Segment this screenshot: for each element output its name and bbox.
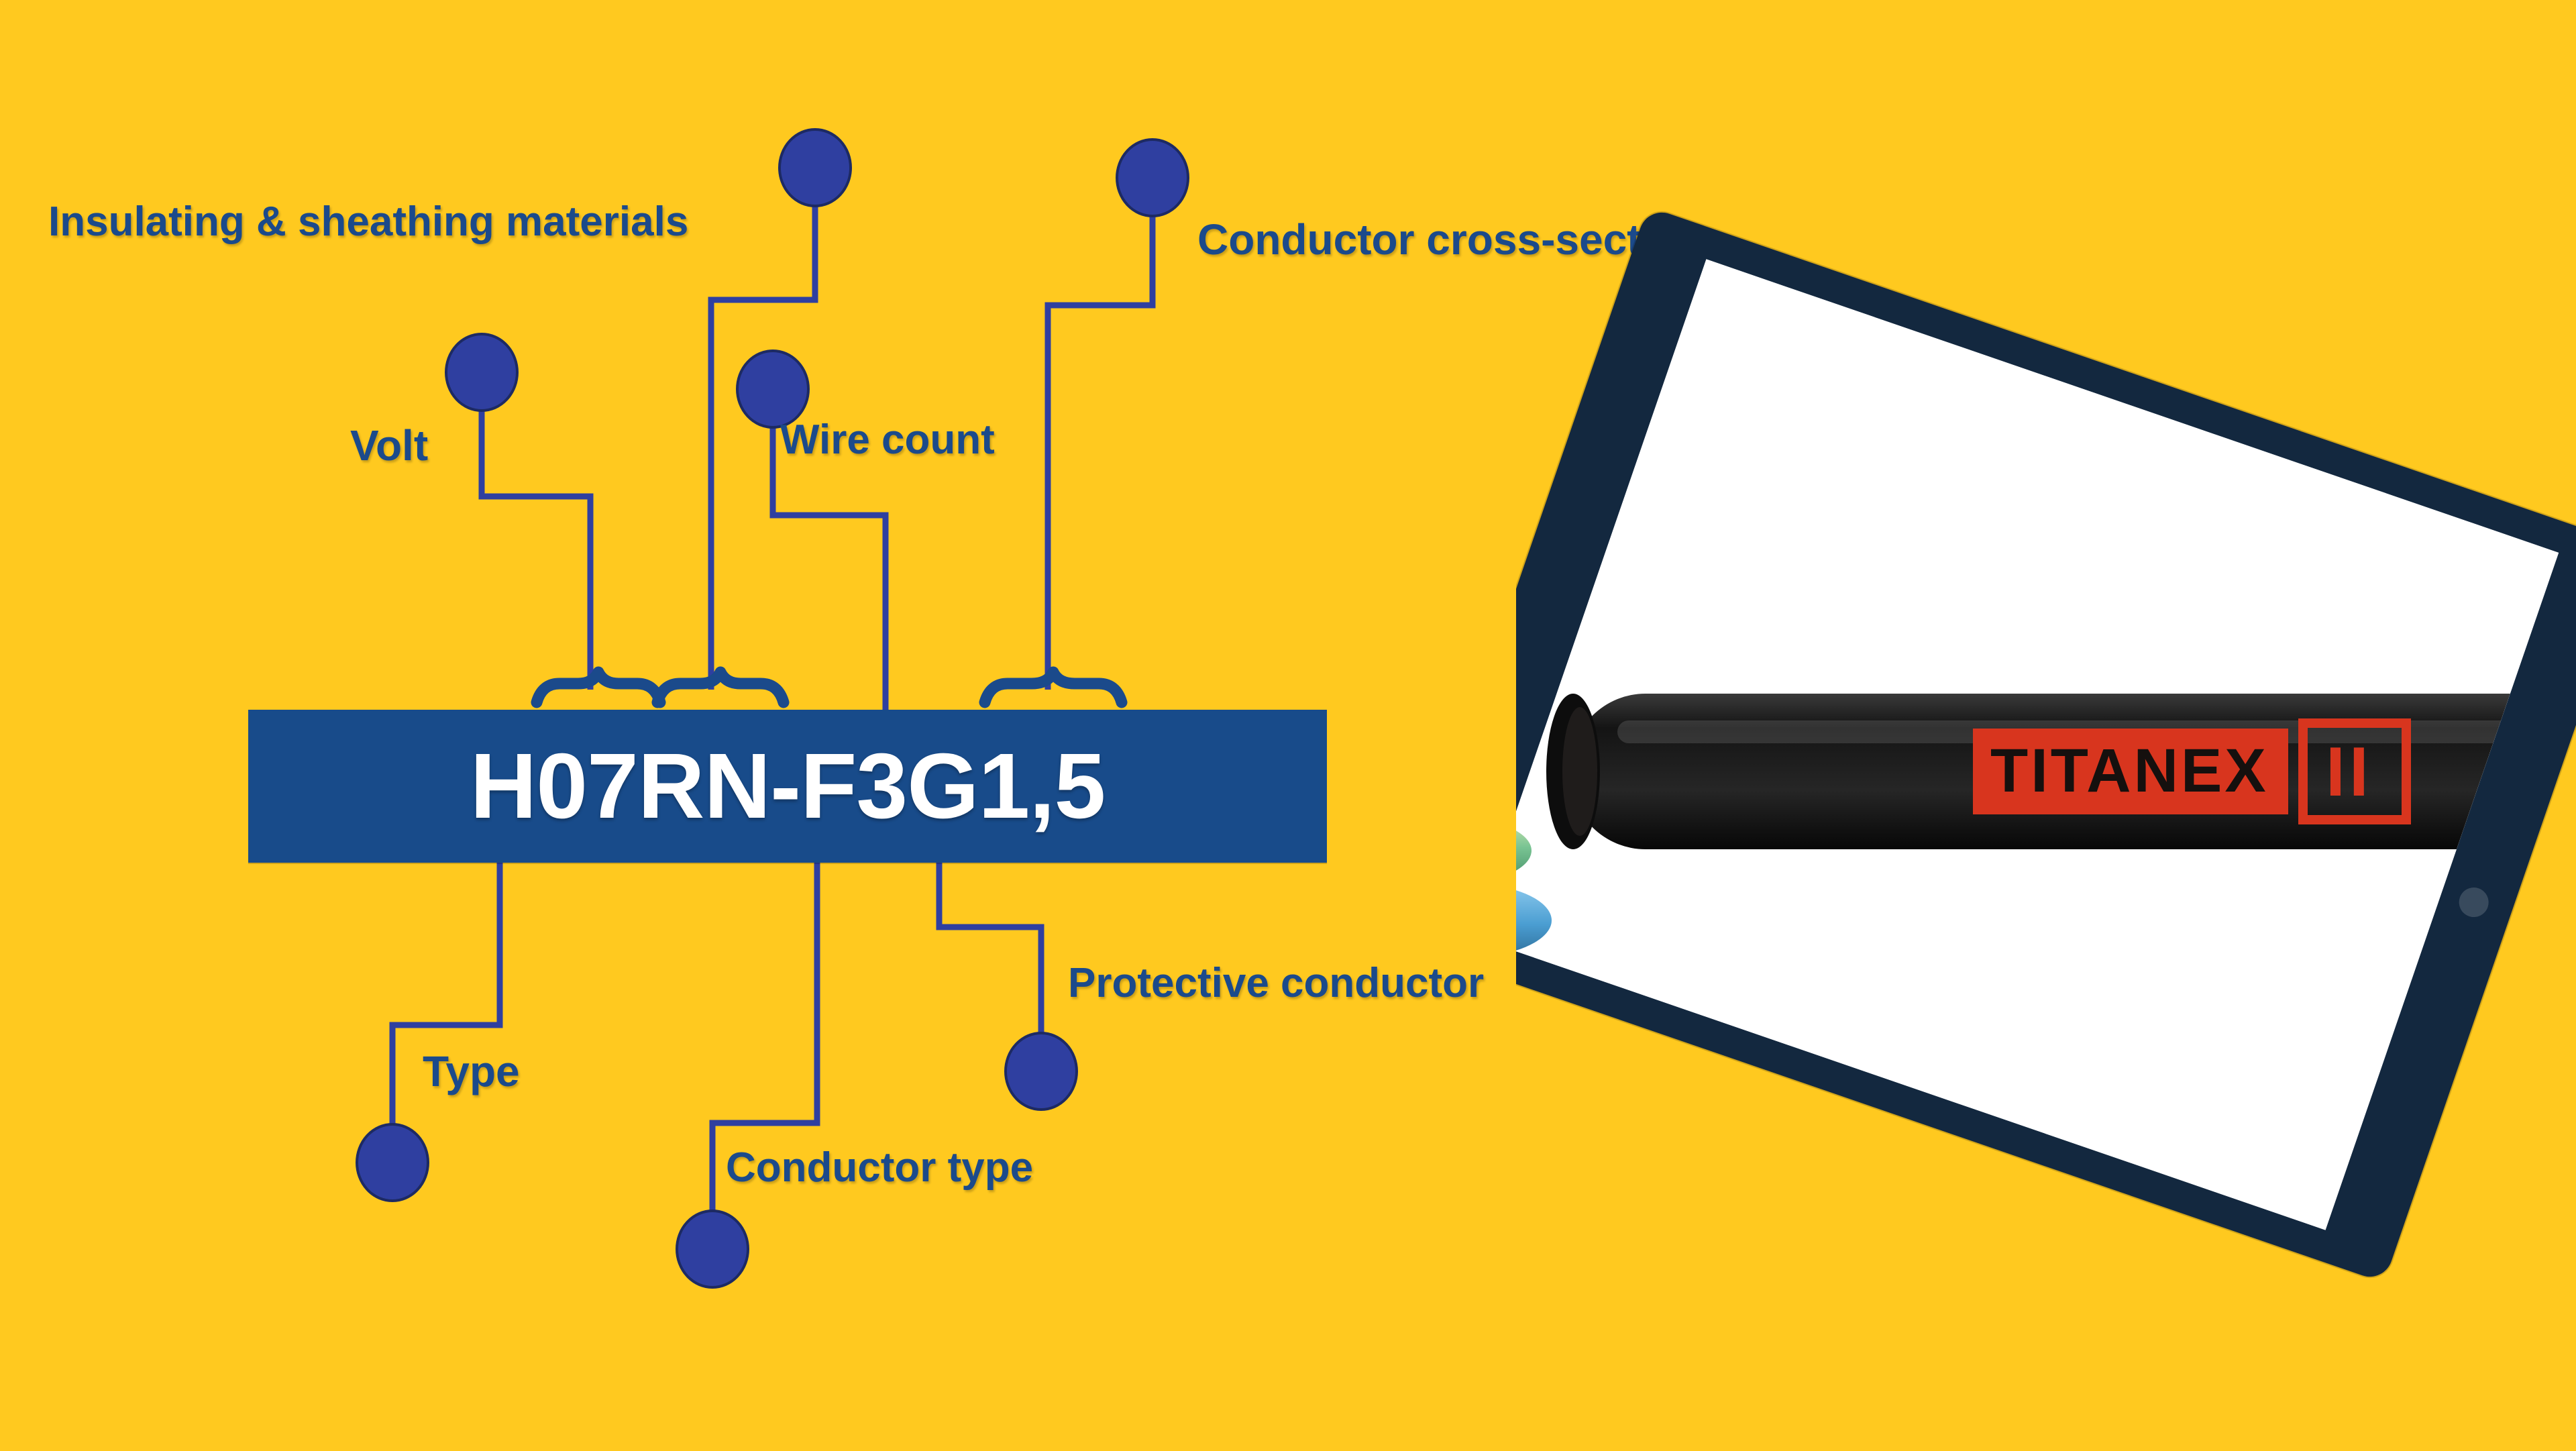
brace-group bbox=[537, 672, 1122, 702]
connector-protective bbox=[939, 863, 1077, 1110]
brace-volt bbox=[537, 672, 660, 702]
infographic-canvas: H07RN-F3G1,5 Insulating & sheathing mate… bbox=[0, 0, 2576, 1451]
connector-wire-count bbox=[737, 351, 885, 758]
callout-label-insulating: Insulating & sheathing materials bbox=[48, 201, 688, 243]
callout-label-volt: Volt bbox=[350, 424, 428, 467]
callout-label-conductor-type: Conductor type bbox=[726, 1147, 1033, 1189]
brace-cross-section bbox=[985, 672, 1122, 702]
cable-code-text: H07RN-F3G1,5 bbox=[470, 740, 1106, 832]
connector-cross-section bbox=[1048, 140, 1188, 690]
callout-label-type: Type bbox=[423, 1050, 520, 1093]
callout-label-wire-count: Wire count bbox=[780, 419, 995, 461]
connector-volt bbox=[446, 334, 590, 690]
connector-conductor-type bbox=[677, 863, 817, 1287]
cable-code-banner: H07RN-F3G1,5 bbox=[248, 710, 1327, 863]
connector-type bbox=[357, 863, 500, 1201]
brace-insulating bbox=[657, 672, 784, 702]
callout-label-cross-section: Conductor cross-section bbox=[1197, 218, 1705, 261]
callout-label-protective-conductor: Protective conductor bbox=[1068, 963, 1484, 1004]
